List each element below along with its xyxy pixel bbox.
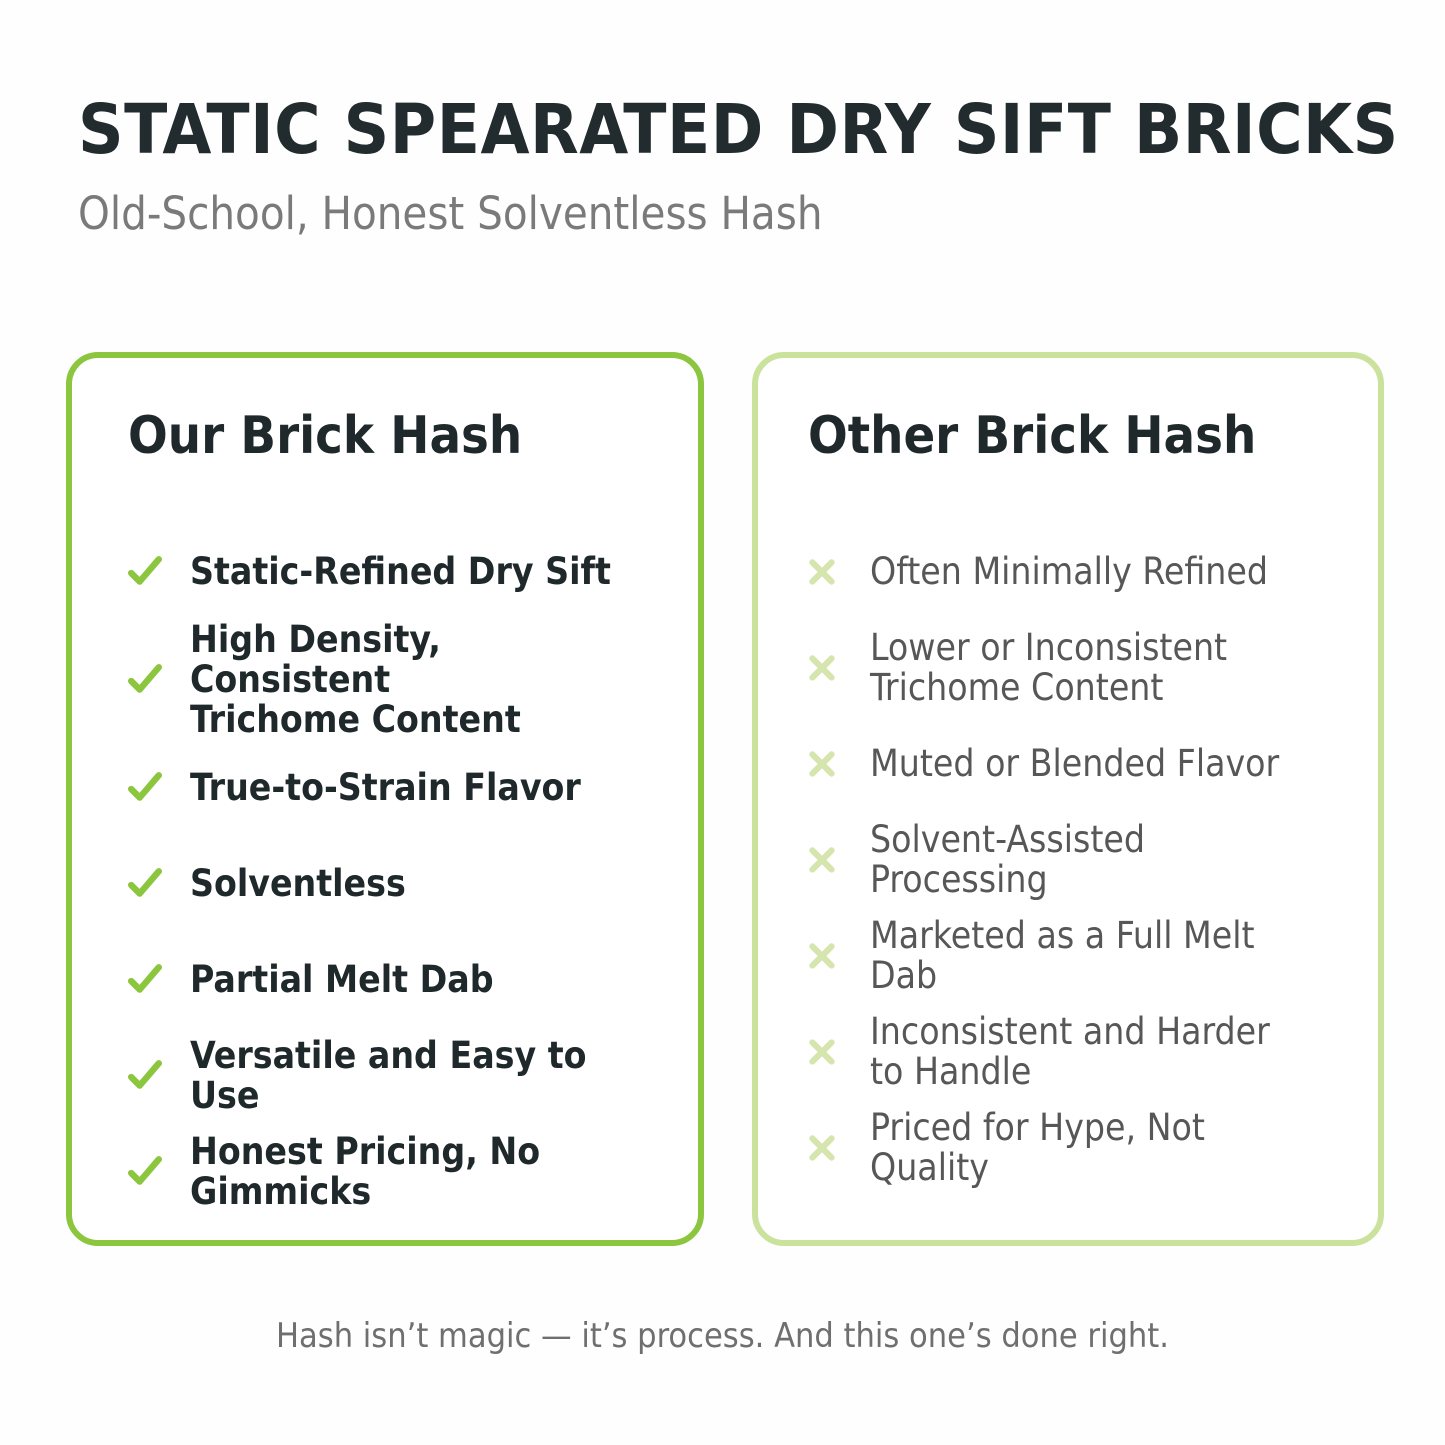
check-icon	[128, 1155, 190, 1189]
x-icon	[808, 942, 870, 970]
list-item-label: Inconsistent and Harder to Handle	[870, 1012, 1270, 1092]
x-icon	[808, 846, 870, 874]
list-item: Solventless	[128, 836, 652, 932]
list-item-label: Solventless	[190, 864, 406, 904]
page-subtitle: Old-School, Honest Solventless Hash	[78, 191, 1378, 236]
check-icon	[128, 1059, 190, 1093]
x-icon	[808, 1038, 870, 1066]
list-item: Versatile and Easy to Use	[128, 1028, 652, 1124]
list-item: Priced for Hype, Not Quality	[808, 1100, 1332, 1196]
list-item-label: Solvent-Assisted Processing	[870, 820, 1332, 900]
list-item: Static-Refined Dry Sift	[128, 524, 652, 620]
list-item-label: Priced for Hype, Not Quality	[870, 1108, 1332, 1188]
list-item: Marketed as a Full Melt Dab	[808, 908, 1332, 1004]
list-item-label: Marketed as a Full Melt Dab	[870, 916, 1332, 996]
feature-list-ours: Static-Refined Dry Sift High Density, Co…	[128, 524, 652, 1220]
list-item-label: Muted or Blended Flavor	[870, 744, 1279, 784]
list-item: Inconsistent and Harder to Handle	[808, 1004, 1332, 1100]
page-title: STATIC SPEARATED DRY SIFT BRICKS	[78, 96, 1404, 165]
check-icon	[128, 867, 190, 901]
list-item-label: Static-Refined Dry Sift	[190, 552, 611, 592]
list-item: High Density, Consistent Trichome Conten…	[128, 620, 652, 740]
comparison-cards: Our Brick Hash Static-Refined Dry Sift	[66, 352, 1384, 1246]
card-title-others: Other Brick Hash	[808, 410, 1332, 462]
list-item-label: High Density, Consistent Trichome Conten…	[190, 620, 652, 740]
list-item: Honest Pricing, No Gimmicks	[128, 1124, 652, 1220]
x-icon	[808, 1134, 870, 1162]
check-icon	[128, 663, 190, 697]
list-item-label: Honest Pricing, No Gimmicks	[190, 1132, 652, 1212]
x-icon	[808, 750, 870, 778]
feature-list-others: Often Minimally Refined Lower or Inconsi…	[808, 524, 1332, 1196]
check-icon	[128, 771, 190, 805]
footer-tagline: Hash isn’t magic — it’s process. And thi…	[0, 1316, 1445, 1356]
list-item: Solvent-Assisted Processing	[808, 812, 1332, 908]
x-icon	[808, 654, 870, 682]
check-icon	[128, 555, 190, 589]
header: STATIC SPEARATED DRY SIFT BRICKS Old-Sch…	[78, 96, 1378, 236]
list-item: Muted or Blended Flavor	[808, 716, 1332, 812]
check-icon	[128, 963, 190, 997]
list-item-label: Versatile and Easy to Use	[190, 1036, 652, 1116]
card-our-brick-hash: Our Brick Hash Static-Refined Dry Sift	[66, 352, 704, 1246]
infographic-canvas: STATIC SPEARATED DRY SIFT BRICKS Old-Sch…	[0, 0, 1445, 1445]
list-item-label: Often Minimally Refined	[870, 552, 1268, 592]
card-title-ours: Our Brick Hash	[128, 410, 652, 462]
list-item: Often Minimally Refined	[808, 524, 1332, 620]
list-item: Partial Melt Dab	[128, 932, 652, 1028]
card-other-brick-hash: Other Brick Hash Often Minimally Refined	[752, 352, 1384, 1246]
list-item-label: Lower or Inconsistent Trichome Content	[870, 628, 1227, 708]
list-item-label: Partial Melt Dab	[190, 960, 494, 1000]
list-item: Lower or Inconsistent Trichome Content	[808, 620, 1332, 716]
list-item: True-to-Strain Flavor	[128, 740, 652, 836]
x-icon	[808, 558, 870, 586]
list-item-label: True-to-Strain Flavor	[190, 768, 581, 808]
